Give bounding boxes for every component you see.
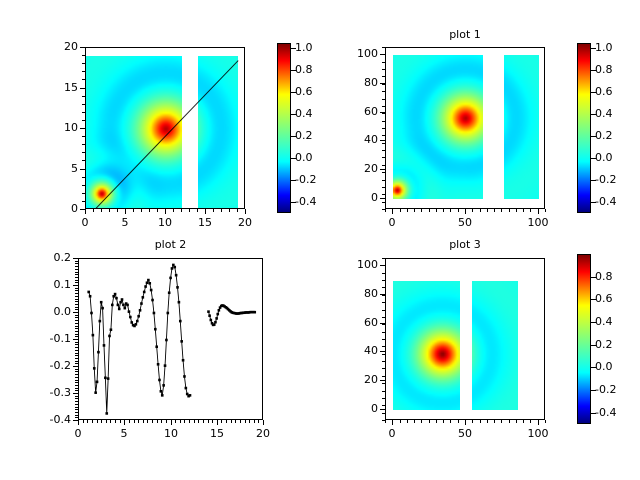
- plot3-colorbar-gradient: [578, 255, 590, 423]
- plot3-ytick-minor: [382, 295, 385, 296]
- plot3-axes: [385, 258, 545, 420]
- plot3-ytick-minor: [382, 376, 385, 377]
- plot3-xtick-minor: [494, 420, 495, 423]
- plot3-xtick-minor: [436, 420, 437, 423]
- plot3-xticklabel: 50: [440, 427, 490, 440]
- plot3-xtick-minor: [400, 420, 401, 423]
- plot3-ytick-minor: [382, 398, 385, 399]
- plot3-ytick-minor: [382, 413, 385, 414]
- plot3-cbar-ticklabel: 0.4: [595, 315, 613, 328]
- plot3-cbar-ticklabel: -0.4: [595, 406, 616, 419]
- plot3-ytick-minor: [382, 354, 385, 355]
- plot3-cbar-ticklabel: 0.2: [595, 338, 613, 351]
- plot3-xtick-minor: [392, 420, 393, 423]
- plot3-xtick-minor: [429, 420, 430, 423]
- plot3-ytick: [380, 380, 385, 381]
- plot3-ytick-minor: [382, 420, 385, 421]
- plot3-xtick-minor: [465, 420, 466, 423]
- plot3-xticklabel: 100: [513, 427, 563, 440]
- plot3-xtick-minor: [480, 420, 481, 423]
- plot3-ytick-minor: [382, 405, 385, 406]
- figure-canvas: 0510152005101520-0.4-0.20.00.20.40.60.81…: [0, 0, 640, 480]
- plot3-ytick-minor: [382, 280, 385, 281]
- plot3-ytick-minor: [382, 265, 385, 266]
- plot3-xtick-minor: [516, 420, 517, 423]
- plot3-ytick: [380, 351, 385, 352]
- plot3-ytick-minor: [382, 332, 385, 333]
- plot3-cbar-ticklabel: 0.8: [595, 270, 613, 283]
- plot3-ytick-minor: [382, 287, 385, 288]
- plot3-patch-right: [472, 281, 518, 410]
- plot3-ytick-minor: [382, 324, 385, 325]
- plot3-xtick-minor: [472, 420, 473, 423]
- plot3-ytick-minor: [382, 273, 385, 274]
- plot3-xtick-minor: [450, 420, 451, 423]
- plot3-yticklabel: 80: [333, 287, 378, 300]
- plot3-yticklabel: 60: [333, 316, 378, 329]
- plot3-xtick-minor: [407, 420, 408, 423]
- plot3-xtick-minor: [523, 420, 524, 423]
- plot3-ytick-minor: [382, 383, 385, 384]
- plot3-xtick-minor: [487, 420, 488, 423]
- plot3-colorbar[interactable]: [577, 254, 591, 424]
- plot3-ytick-minor: [382, 361, 385, 362]
- plot3-xtick-minor: [414, 420, 415, 423]
- plot3-ytick-minor: [382, 339, 385, 340]
- plot3-title: plot 3: [385, 238, 545, 251]
- plot3-ytick-minor: [382, 391, 385, 392]
- plot3-xtick-minor: [458, 420, 459, 423]
- plot3-yticklabel: 20: [333, 373, 378, 386]
- plot3-cbar-ticklabel: -0.2: [595, 383, 616, 396]
- plot3-xtick-minor: [385, 420, 386, 423]
- plot3-xtick-minor: [509, 420, 510, 423]
- panel-plot3: plot 3020406080100050100-0.4-0.20.00.20.…: [0, 0, 640, 480]
- plot3-xtick-minor: [501, 420, 502, 423]
- plot3-cbar-ticklabel: 0.6: [595, 292, 613, 305]
- plot3-xtick-minor: [545, 420, 546, 423]
- plot3-cbar-ticklabel: 0.0: [595, 360, 613, 373]
- plot3-yticklabel: 0: [333, 402, 378, 415]
- plot3-ytick-minor: [382, 302, 385, 303]
- plot3-xtick-minor: [538, 420, 539, 423]
- plot3-ytick-minor: [382, 310, 385, 311]
- plot3-xtick-minor: [443, 420, 444, 423]
- plot3-yticklabel: 40: [333, 344, 378, 357]
- plot3-ytick-minor: [382, 368, 385, 369]
- plot3-xticklabel: 0: [367, 427, 417, 440]
- plot3-ytick-minor: [382, 317, 385, 318]
- plot3-yticklabel: 100: [333, 258, 378, 271]
- plot3-ytick-minor: [382, 346, 385, 347]
- plot3-ytick: [380, 409, 385, 410]
- plot3-xtick-minor: [530, 420, 531, 423]
- plot3-patch-left: [393, 281, 460, 410]
- plot3-ytick-minor: [382, 258, 385, 259]
- plot3-xtick-minor: [421, 420, 422, 423]
